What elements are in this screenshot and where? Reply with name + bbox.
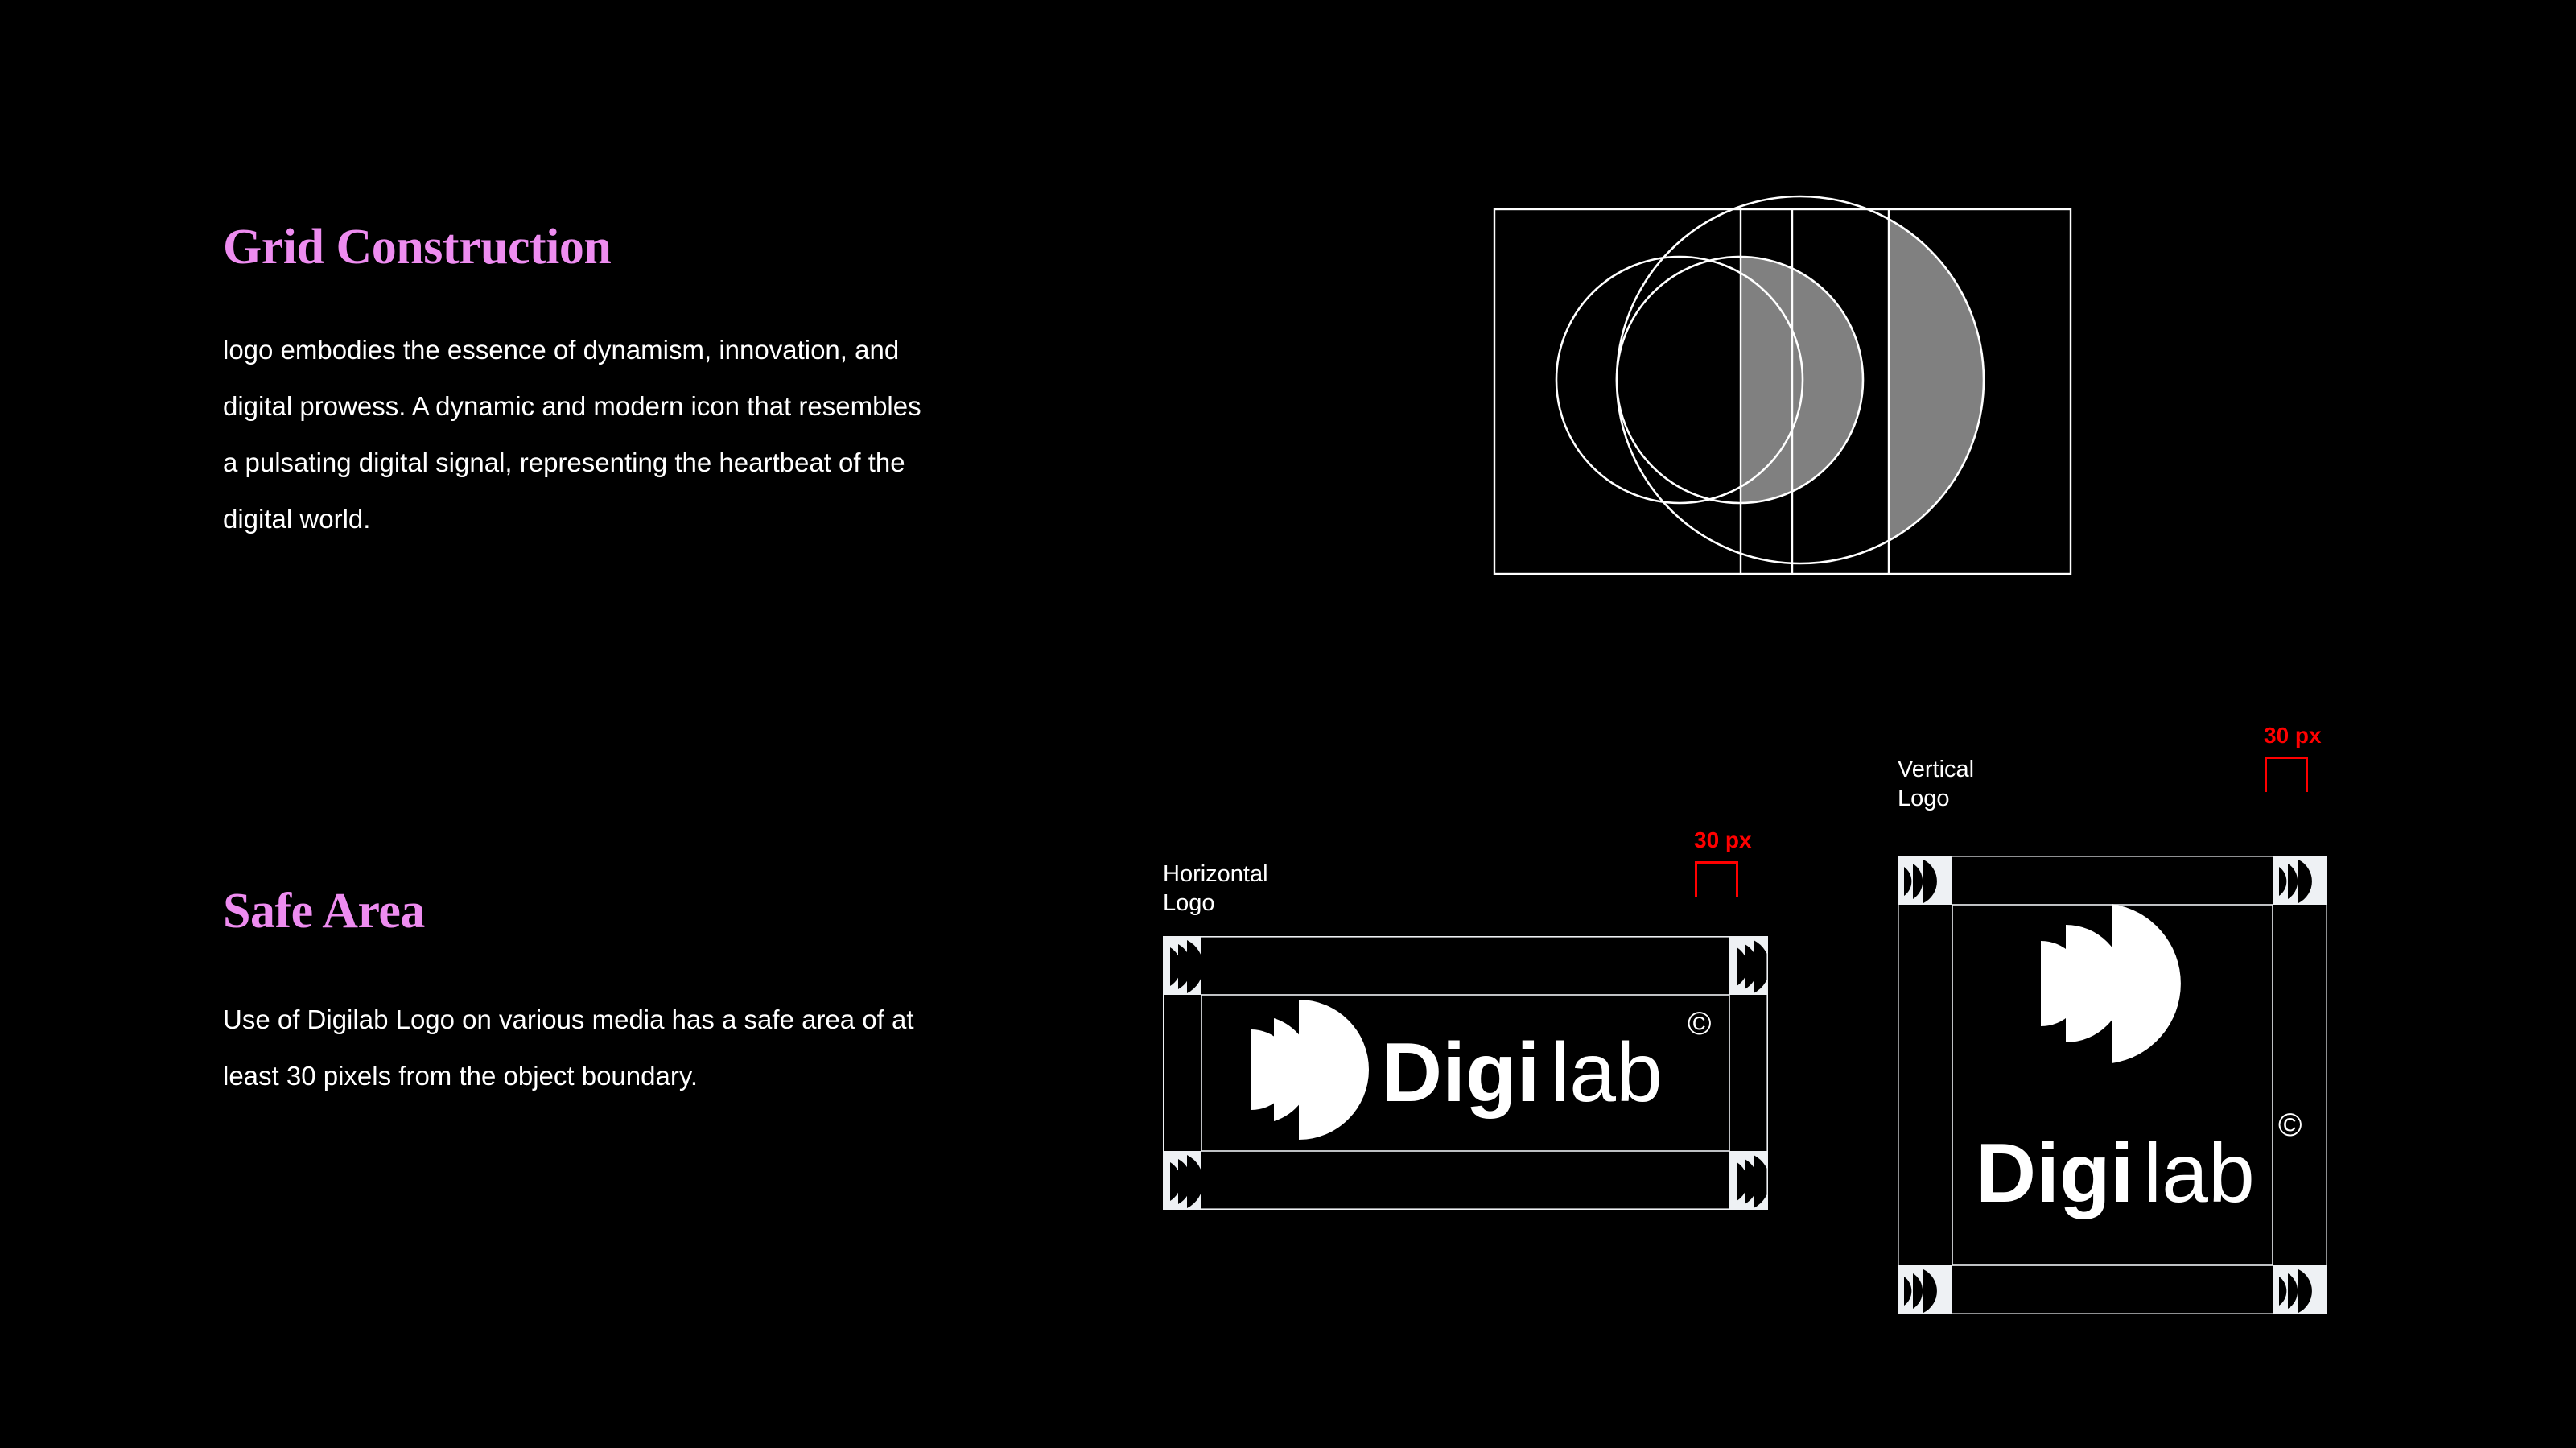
corner-marker-top-right [2273, 856, 2327, 905]
horizontal-padding-note: 30 px [1694, 827, 1752, 853]
grid-construction-svg [1473, 185, 2100, 604]
brand-guidelines-slide: Grid Construction logo embodies the esse… [0, 0, 2576, 1448]
page-title-grid-construction: Grid Construction [223, 219, 611, 276]
horizontal-wordmark-light: lab [1551, 1026, 1663, 1120]
grid-construction-description: logo embodies the essence of dynamism, i… [223, 322, 931, 547]
safe-area-description: Use of Digilab Logo on various media has… [223, 992, 915, 1104]
vertical-copyright-icon: © [2278, 1108, 2302, 1143]
vertical-padding-bracket-icon [2265, 757, 2308, 792]
corner-marker-bottom-right [1729, 1151, 1768, 1210]
corner-marker-top-left [1898, 856, 1952, 905]
corner-marker-top-right [1729, 936, 1768, 995]
horizontal-copyright-icon: © [1688, 1006, 1711, 1042]
corner-marker-bottom-right [2273, 1265, 2327, 1314]
vertical-wordmark-light: lab [2143, 1127, 2255, 1220]
corner-marker-bottom-left [1163, 1151, 1203, 1210]
horizontal-logo-label: Horizontal Logo [1163, 860, 1268, 918]
vertical-wordmark-bold: Digi [1976, 1127, 2133, 1220]
grid-construction-diagram [1473, 185, 2100, 604]
horizontal-logo-safe-area-diagram: Digi lab © [1163, 936, 1768, 1210]
digilab-mark-horizontal [1251, 1000, 1369, 1140]
page-title-safe-area: Safe Area [223, 883, 425, 940]
digilab-mark-vertical [2041, 904, 2181, 1063]
horizontal-wordmark-bold: Digi [1382, 1026, 1539, 1120]
vertical-logo-safe-area-diagram: Digi lab © [1898, 856, 2327, 1314]
corner-marker-bottom-left [1898, 1265, 1952, 1314]
vertical-logo-label: Vertical Logo [1898, 755, 1974, 813]
vertical-padding-note: 30 px [2264, 723, 2322, 749]
corner-marker-top-left [1163, 936, 1203, 995]
horizontal-padding-bracket-icon [1695, 861, 1738, 897]
